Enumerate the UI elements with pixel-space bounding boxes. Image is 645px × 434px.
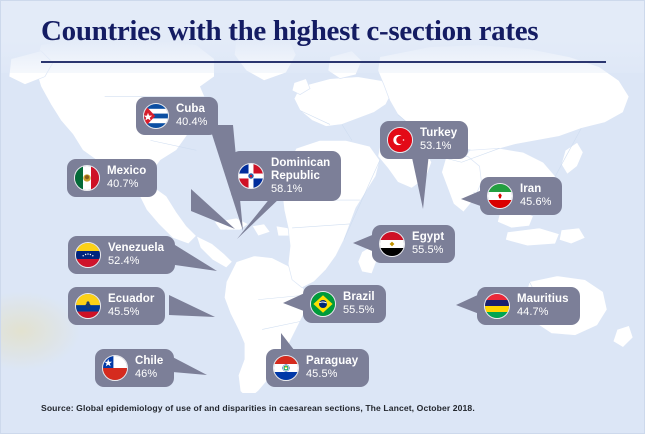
callout-venezuela-text: Venezuela 52.4% xyxy=(108,242,164,267)
callout-egypt-text: Egypt 55.5% xyxy=(412,231,444,256)
flag-brazil-icon xyxy=(310,291,336,317)
flag-chile-icon xyxy=(102,355,128,381)
callout-chile-value: 46% xyxy=(135,368,163,380)
callout-venezuela[interactable]: Venezuela 52.4% xyxy=(68,236,175,274)
callout-iran-name: Iran xyxy=(520,183,551,196)
callout-chile[interactable]: Chile 46% xyxy=(95,349,174,387)
callout-paraguay-text: Paraguay 45.5% xyxy=(306,355,358,380)
callout-ecuador-text: Ecuador 45.5% xyxy=(108,293,154,318)
callout-brazil[interactable]: Brazil 55.5% xyxy=(303,285,386,323)
flag-ecuador-icon xyxy=(75,293,101,319)
callout-chile-name: Chile xyxy=(135,355,163,368)
callout-paraguay-name: Paraguay xyxy=(306,355,358,368)
callout-cuba-text: Cuba 40.4% xyxy=(176,103,207,128)
callout-egypt-value: 55.5% xyxy=(412,244,444,256)
callout-egypt[interactable]: Egypt 55.5% xyxy=(372,225,455,263)
callout-dominican-republic-name-line2: Republic xyxy=(271,170,330,183)
callout-ecuador-name: Ecuador xyxy=(108,293,154,306)
callout-iran-value: 45.6% xyxy=(520,196,551,208)
callout-turkey-text: Turkey 53.1% xyxy=(420,127,457,152)
callout-cuba[interactable]: Cuba 40.4% xyxy=(136,97,218,135)
callout-ecuador-value: 45.5% xyxy=(108,306,154,318)
flag-venezuela-icon xyxy=(75,242,101,268)
flag-iran-icon xyxy=(487,183,513,209)
callout-turkey-name: Turkey xyxy=(420,127,457,140)
flag-mauritius-icon xyxy=(484,293,510,319)
callout-dominican-republic-text: Dominican Republic 58.1% xyxy=(271,157,330,195)
infographic-root: Countries with the highest c-section rat… xyxy=(0,0,645,434)
title-divider xyxy=(41,61,606,63)
callout-venezuela-name: Venezuela xyxy=(108,242,164,255)
source-text: Source: Global epidemiology of use of an… xyxy=(41,403,475,413)
callout-mexico-name: Mexico xyxy=(107,165,146,178)
callout-brazil-name: Brazil xyxy=(343,291,375,304)
callout-iran[interactable]: Iran 45.6% xyxy=(480,177,562,215)
callout-egypt-name: Egypt xyxy=(412,231,444,244)
callout-dominican-republic-value: 58.1% xyxy=(271,183,330,195)
flag-dominican-republic-icon xyxy=(238,163,264,189)
callout-cuba-name: Cuba xyxy=(176,103,207,116)
footer: Source: Global epidemiology of use of an… xyxy=(1,393,644,433)
callout-paraguay-value: 45.5% xyxy=(306,368,358,380)
callout-venezuela-value: 52.4% xyxy=(108,255,164,267)
callout-chile-text: Chile 46% xyxy=(135,355,163,380)
callout-iran-text: Iran 45.6% xyxy=(520,183,551,208)
flag-mexico-icon xyxy=(74,165,100,191)
callout-cuba-value: 40.4% xyxy=(176,116,207,128)
callout-mexico-text: Mexico 40.7% xyxy=(107,165,146,190)
callout-mexico-value: 40.7% xyxy=(107,178,146,190)
flag-turkey-icon xyxy=(387,127,413,153)
callout-brazil-text: Brazil 55.5% xyxy=(343,291,375,316)
callout-mauritius-text: Mauritius 44.7% xyxy=(517,293,569,318)
callout-mauritius[interactable]: Mauritius 44.7% xyxy=(477,287,580,325)
callout-turkey-value: 53.1% xyxy=(420,140,457,152)
callout-paraguay[interactable]: Paraguay 45.5% xyxy=(266,349,369,387)
callout-mexico[interactable]: Mexico 40.7% xyxy=(67,159,157,197)
header: Countries with the highest c-section rat… xyxy=(1,1,644,73)
callout-turkey[interactable]: Turkey 53.1% xyxy=(380,121,468,159)
flag-cuba-icon xyxy=(143,103,169,129)
flag-egypt-icon xyxy=(379,231,405,257)
callout-mauritius-name: Mauritius xyxy=(517,293,569,306)
callout-ecuador[interactable]: Ecuador 45.5% xyxy=(68,287,165,325)
callout-brazil-value: 55.5% xyxy=(343,304,375,316)
callout-mauritius-value: 44.7% xyxy=(517,306,569,318)
page-title: Countries with the highest c-section rat… xyxy=(41,15,538,48)
flag-paraguay-icon xyxy=(273,355,299,381)
callout-dominican-republic[interactable]: Dominican Republic 58.1% xyxy=(231,151,341,201)
callout-dominican-republic-name: Dominican xyxy=(271,157,330,170)
